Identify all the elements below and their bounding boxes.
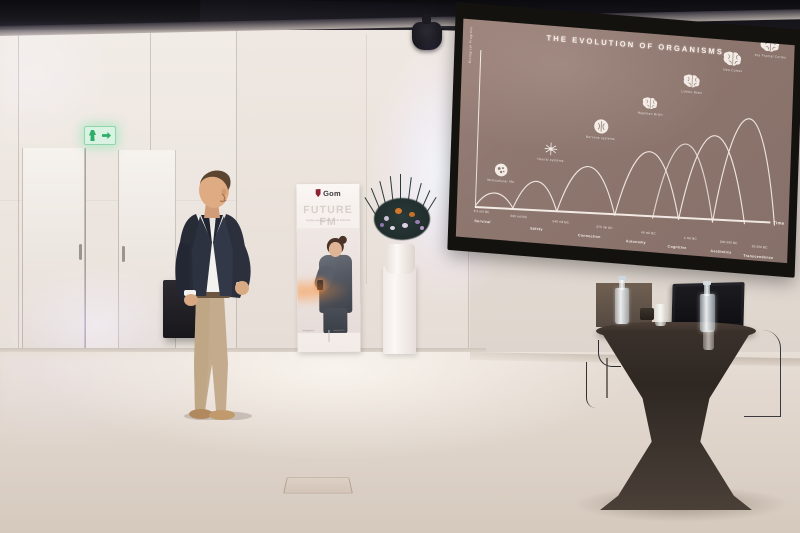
cable-pole [606,358,608,398]
flower-bouquet [366,176,438,250]
roll-up-banner: Gom FUTURE FM Facility management voor d… [296,184,360,352]
banner-headline: FUTURE FM [297,204,360,228]
screen-glare [456,19,795,264]
small-box [640,308,654,320]
banner-logo: Gom [296,189,359,198]
banner-subline: Facility management voor de toekomst [303,219,354,223]
crest-icon [315,189,321,197]
cable [744,330,781,417]
banner-logo-text: Gom [323,189,341,198]
flower-pedestal [383,266,416,354]
banner-footer-left: info@gom.nl [302,330,324,333]
water-bottle[interactable] [700,294,715,332]
drinking-glass[interactable] [703,330,714,350]
bottle-neck [619,279,625,290]
screenshot-root: THE EVOLUTION OF ORGANISMS Biological Pr… [0,0,800,533]
presenter-hand-right [235,281,249,295]
light-wash-left-top [0,30,110,150]
projection-screen-frame: THE EVOLUTION OF ORGANISMS Biological Pr… [447,2,800,278]
cable [598,340,621,367]
banner-photo [297,228,361,333]
presenter-hand-left [184,294,198,306]
banner-footer-right: www.gom.nl [333,330,355,333]
floor-access-hatch [283,477,353,493]
water-bottle[interactable] [615,288,629,324]
drinking-glass[interactable] [655,304,666,326]
presenter [160,168,280,420]
presenter-shoe-right [209,410,235,420]
bottle-cap [618,276,626,280]
bottle-neck [704,284,710,296]
banner-footer: info@gom.nl www.gom.nl [302,330,355,344]
projection-screen: THE EVOLUTION OF ORGANISMS Biological Pr… [456,19,795,264]
cable [586,362,601,408]
bottle-cap [703,281,711,285]
